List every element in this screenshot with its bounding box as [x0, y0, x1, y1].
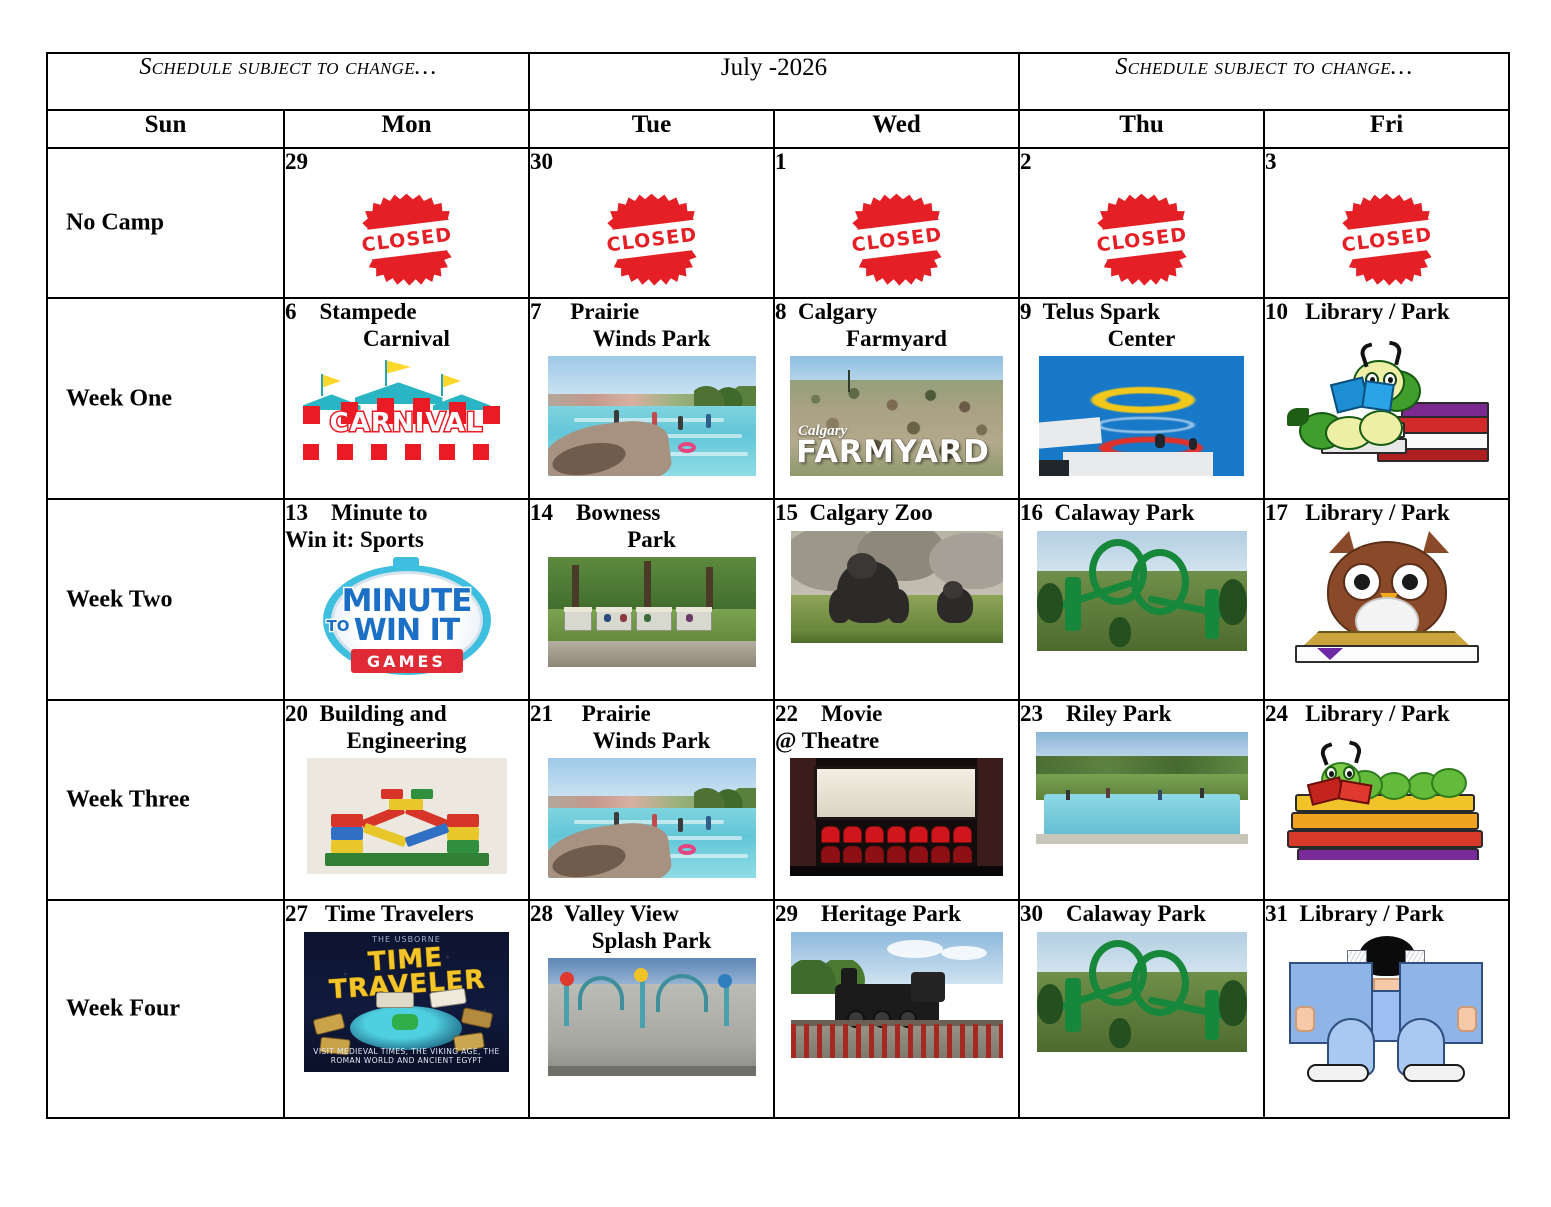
bookworm-clipart	[1281, 330, 1493, 464]
day-cell-13[interactable]: 13 Minute to Win it: Sports MINUTE TO WI…	[284, 499, 529, 700]
month-year-title: July -2026	[530, 54, 1018, 82]
day-cell-22[interactable]: 22 Movie @ Theatre	[774, 700, 1019, 900]
event-name-line1: Stampede	[320, 299, 417, 324]
weekday-header-thu: Thu	[1019, 110, 1264, 148]
reader-hand-left	[1295, 1006, 1315, 1032]
event-name-line2: Park	[530, 527, 773, 554]
event-name-line1: Calgary	[798, 299, 877, 324]
weekday-header-sun: Sun	[47, 110, 284, 148]
event-name-line1: Movie	[821, 701, 882, 726]
closed-stamp-icon: CLOSED	[606, 194, 698, 286]
day-number: 2	[1020, 149, 1263, 176]
event-name-line2: Farmyard	[775, 326, 1018, 353]
week-label: Week One	[48, 385, 283, 412]
day-number: 30	[530, 149, 773, 176]
week-label-cell: No Camp	[47, 148, 284, 298]
day-number: 16	[1020, 500, 1043, 525]
day-cell-9[interactable]: 9 Telus Spark Center	[1019, 298, 1264, 499]
event-name-line1: Heritage Park	[821, 901, 961, 926]
day-number: 8	[775, 299, 787, 324]
cinema-screen	[814, 766, 978, 820]
schedule-notice-right: Schedule subject to change…	[1020, 54, 1508, 81]
event-name-line1: Calaway Park	[1055, 500, 1195, 525]
wave-pool-photo	[548, 758, 756, 878]
event-name-line1: Time Travelers	[325, 901, 474, 926]
calendar-title-row: Schedule subject to change… July -2026 S…	[47, 53, 1509, 110]
day-number: 23	[1020, 701, 1043, 726]
minute-to-win-it-logo: MINUTE TO WIN IT GAMES	[301, 557, 513, 683]
carnival-word-label: CARNIVAL	[299, 408, 515, 438]
weekday-header-fri: Fri	[1264, 110, 1509, 148]
reader-hand-right	[1457, 1006, 1477, 1032]
roller-coaster-photo	[1037, 531, 1247, 651]
steam-train-photo	[791, 932, 1003, 1058]
schedule-notice-left: Schedule subject to change…	[48, 54, 528, 81]
white-ring	[1095, 417, 1195, 434]
stopwatch-crown	[393, 557, 419, 571]
event-name-line1: Telus Spark	[1043, 299, 1160, 324]
event-name-line1: Library / Park	[1305, 701, 1449, 726]
day-cell-21[interactable]: 21 Prairie Winds Park	[529, 700, 774, 900]
day-number: 21	[530, 701, 553, 726]
day-cell-23[interactable]: 23 Riley Park	[1019, 700, 1264, 900]
event-name-line2: Splash Park	[530, 928, 773, 955]
weekday-label: Thu	[1020, 111, 1263, 139]
week-label-cell: Week Two	[47, 499, 284, 700]
calendar-week-row: Week Four 27 Time Travelers THE USBORNE …	[47, 900, 1509, 1118]
week-label: No Camp	[48, 210, 283, 237]
day-number: 15	[775, 500, 798, 525]
calendar-week-row: Week Three 20 Building and Engineering	[47, 700, 1509, 900]
event-name-line2: Carnival	[285, 326, 528, 353]
closed-stamp-icon: CLOSED	[851, 194, 943, 286]
weekday-header-mon: Mon	[284, 110, 529, 148]
notice-right-cell: Schedule subject to change…	[1019, 53, 1509, 110]
camp-calendar-table: Schedule subject to change… July -2026 S…	[46, 52, 1510, 1119]
gorilla-photo	[791, 531, 1003, 643]
weekday-label: Sun	[48, 111, 283, 139]
time-traveler-book-cover: THE USBORNE TIME TRAVELER VISIT MEDIEVAL…	[304, 932, 509, 1072]
day-cell-14[interactable]: 14 Bowness Park	[529, 499, 774, 700]
day-cell-31[interactable]: 31 Library / Park	[1264, 900, 1509, 1118]
event-name-line2: Engineering	[285, 728, 528, 755]
day-cell-24[interactable]: 24 Library / Park	[1264, 700, 1509, 900]
weekday-label: Fri	[1265, 111, 1508, 139]
riley-park-pool-photo	[1036, 732, 1248, 844]
event-name-line1: Bowness	[576, 500, 660, 525]
day-cell-2[interactable]: 2 CLOSED	[1019, 148, 1264, 298]
week-label-cell: Week Four	[47, 900, 284, 1118]
day-number: 29	[775, 901, 798, 926]
event-name-line1: Library / Park	[1305, 500, 1449, 525]
event-name-line1: Library / Park	[1305, 299, 1449, 324]
day-cell-10[interactable]: 10 Library / Park	[1264, 298, 1509, 499]
event-name-line1: Riley Park	[1066, 701, 1171, 726]
day-number: 14	[530, 500, 553, 525]
weekday-label: Tue	[530, 111, 773, 139]
week-label-cell: Week One	[47, 298, 284, 499]
bookmark-icon	[1317, 648, 1343, 660]
event-name-line1: Calaway Park	[1066, 901, 1206, 926]
owl-clipart	[1281, 531, 1493, 667]
month-title-cell: July -2026	[529, 53, 1019, 110]
farmyard-name-label: FARMYARD	[796, 434, 989, 470]
day-number: 20	[285, 701, 308, 726]
calgary-farmyard-photo: Calgary FARMYARD	[790, 356, 1003, 476]
day-number: 24	[1265, 701, 1288, 726]
bowness-park-train-photo	[548, 557, 756, 667]
day-number: 7	[530, 299, 542, 324]
owl-eye-left	[1343, 563, 1381, 601]
calendar-week-row: No Camp 29 CLOSED 30 CLOSED 1	[47, 148, 1509, 298]
day-number: 28	[530, 901, 553, 926]
mtwi-games-label: GAMES	[351, 649, 463, 673]
day-number: 22	[775, 701, 798, 726]
day-number: 3	[1265, 149, 1508, 176]
telus-spark-photo	[1039, 356, 1244, 476]
day-cell-15[interactable]: 15 Calgary Zoo	[774, 499, 1019, 700]
closed-stamp-label: CLOSED	[606, 225, 698, 255]
calendar-week-row: Week One 6 Stampede Carnival	[47, 298, 1509, 499]
week-label: Week Three	[48, 787, 283, 814]
closed-stamp-icon: CLOSED	[361, 194, 453, 286]
notice-left-cell: Schedule subject to change…	[47, 53, 529, 110]
day-cell-7[interactable]: 7 Prairie Winds Park	[529, 298, 774, 499]
weekday-header-tue: Tue	[529, 110, 774, 148]
week-label: Week Two	[48, 586, 283, 613]
day-cell-20[interactable]: 20 Building and Engineering	[284, 700, 529, 900]
week-label-cell: Week Three	[47, 700, 284, 900]
weekday-label: Wed	[775, 111, 1018, 139]
weekday-header-wed: Wed	[774, 110, 1019, 148]
day-cell-29[interactable]: 29 CLOSED	[284, 148, 529, 298]
day-number: 6	[285, 299, 297, 324]
event-name-line2: Win it: Sports	[285, 527, 528, 554]
closed-stamp-label: CLOSED	[851, 225, 943, 255]
day-cell-27[interactable]: 27 Time Travelers THE USBORNE TIME TRAVE…	[284, 900, 529, 1118]
book-subtitle-label: VISIT MEDIEVAL TIMES, THE VIKING AGE, TH…	[304, 1047, 509, 1066]
reader-shoe-right	[1403, 1064, 1465, 1082]
event-name-line2: Winds Park	[530, 326, 773, 353]
day-cell-3[interactable]: 3 CLOSED	[1264, 148, 1509, 298]
wave-pool-photo	[548, 356, 756, 476]
day-number: 27	[285, 901, 308, 926]
reader-shoe-left	[1307, 1064, 1369, 1082]
event-name-line1: Library / Park	[1300, 901, 1444, 926]
day-cell-16[interactable]: 16 Calaway Park	[1019, 499, 1264, 700]
day-number: 30	[1020, 901, 1043, 926]
event-name-line1: Building and	[320, 701, 447, 726]
day-number: 31	[1265, 901, 1288, 926]
day-number: 1	[775, 149, 1018, 176]
day-number: 13	[285, 500, 308, 525]
calendar-week-row: Week Two 13 Minute to Win it: Sports MIN…	[47, 499, 1509, 700]
event-name-line1: Valley View	[564, 901, 679, 926]
event-name-line2: @ Theatre	[775, 728, 1018, 755]
lego-build-photo	[307, 758, 507, 874]
day-cell-17[interactable]: 17 Library / Park	[1264, 499, 1509, 700]
closed-stamp-label: CLOSED	[1096, 225, 1188, 255]
event-name-line1: Calgary Zoo	[810, 500, 933, 525]
day-cell-28[interactable]: 28 Valley View Splash Park	[529, 900, 774, 1118]
person-reading-clipart	[1281, 932, 1493, 1084]
splash-park-photo	[548, 958, 756, 1076]
day-number: 10	[1265, 299, 1288, 324]
closed-stamp-label: CLOSED	[361, 225, 453, 255]
day-cell-8[interactable]: 8 Calgary Farmyard Calgary FARMYARD	[774, 298, 1019, 499]
event-name-line1: Prairie	[570, 299, 639, 324]
day-cell-29-heritage[interactable]: 29 Heritage Park	[774, 900, 1019, 1118]
day-number: 9	[1020, 299, 1032, 324]
movie-theatre-photo	[790, 758, 1003, 876]
weekday-header-row: Sun Mon Tue Wed Thu Fri	[47, 110, 1509, 148]
day-number-and-event: 6 Stampede	[285, 299, 528, 326]
closed-stamp-label: CLOSED	[1341, 225, 1433, 255]
day-cell-30[interactable]: 30 Calaway Park	[1019, 900, 1264, 1118]
day-number: 29	[285, 149, 528, 176]
closed-stamp-icon: CLOSED	[1096, 194, 1188, 286]
day-cell-6[interactable]: 6 Stampede Carnival	[284, 298, 529, 499]
carnival-image: CARNIVAL	[299, 356, 515, 464]
yellow-ring	[1091, 387, 1195, 413]
weekday-label: Mon	[285, 111, 528, 139]
roller-coaster-photo	[1037, 932, 1247, 1052]
event-name-line2: Winds Park	[530, 728, 773, 755]
closed-stamp-icon: CLOSED	[1341, 194, 1433, 286]
mtwi-line2-label: WIN IT	[301, 613, 513, 648]
event-name-line2: Center	[1020, 326, 1263, 353]
week-label: Week Four	[48, 996, 283, 1023]
event-name-line1: Prairie	[582, 701, 651, 726]
day-number: 17	[1265, 500, 1288, 525]
caterpillar-books-clipart	[1281, 732, 1493, 860]
event-name-line1: Minute to	[331, 500, 427, 525]
day-cell-30[interactable]: 30 CLOSED	[529, 148, 774, 298]
calendar-page: Schedule subject to change… July -2026 S…	[0, 0, 1551, 1207]
day-cell-1[interactable]: 1 CLOSED	[774, 148, 1019, 298]
